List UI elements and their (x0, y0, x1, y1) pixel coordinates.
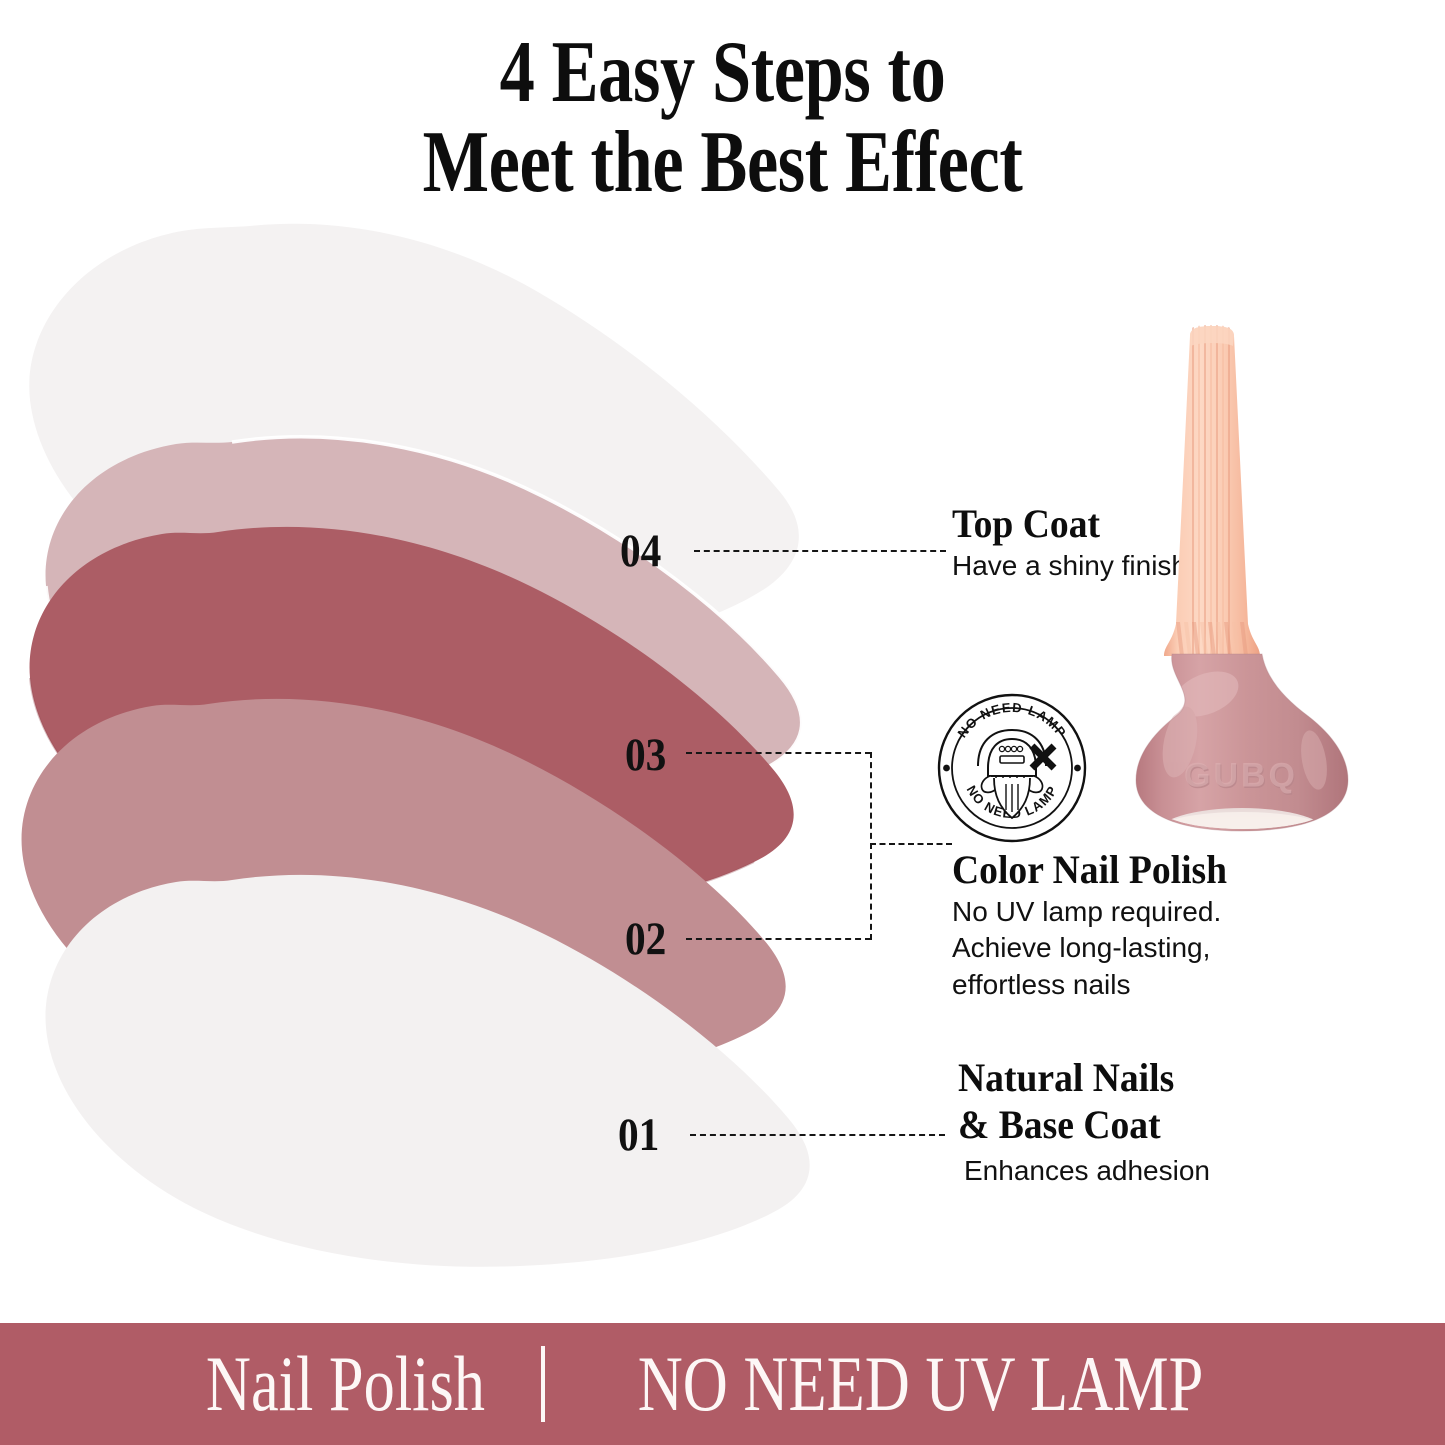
callout-color-nail-polish: Color Nail Polish No UV lamp required. A… (952, 846, 1245, 1002)
svg-text:GUBQ: GUBQ (1184, 757, 1298, 795)
step-number-02: 02 (625, 912, 666, 966)
banner-left-text: Nail Polish (205, 1339, 484, 1429)
step-number-04: 04 (620, 524, 661, 578)
connector-line-03 (686, 752, 871, 754)
callout-base-coat: Natural Nails & Base Coat Enhances adhes… (958, 1054, 1210, 1189)
connector-line-01 (690, 1134, 945, 1136)
step-number-01: 01 (618, 1108, 659, 1162)
page-title: 4 Easy Steps to Meet the Best Effect (0, 28, 1445, 208)
nail-layer-stack (0, 220, 860, 1300)
title-line-1: 4 Easy Steps to (145, 28, 1301, 118)
connector-line-02 (686, 938, 871, 940)
callout-base-coat-heading-2: & Base Coat (958, 1101, 1195, 1148)
bottom-banner: Nail Polish NO NEED UV LAMP (0, 1323, 1445, 1445)
bottle-body: GUBQ GUBQ (1136, 654, 1348, 844)
infographic-canvas: 4 Easy Steps to Meet the Best Effect (0, 0, 1445, 1445)
banner-right-text: NO NEED UV LAMP (638, 1339, 1204, 1429)
layer-01-base-coat (34, 864, 824, 1294)
connector-bracket-vertical (870, 752, 872, 940)
no-need-lamp-badge-icon: NO NEED LAMP NO NEED LAMP (936, 692, 1088, 844)
callout-base-coat-heading-1: Natural Nails (958, 1054, 1195, 1101)
banner-divider (541, 1346, 545, 1422)
callout-base-coat-subtext: Enhances adhesion (964, 1154, 1210, 1188)
step-number-03: 03 (625, 728, 666, 782)
callout-color-polish-heading: Color Nail Polish (952, 846, 1227, 893)
callout-color-polish-subtext-1: No UV lamp required. (952, 895, 1245, 929)
callout-color-polish-subtext-3: effortless nails (952, 968, 1245, 1002)
bottle-cap (1164, 322, 1260, 662)
title-line-2: Meet the Best Effect (145, 118, 1301, 208)
nail-polish-bottle-image: GUBQ GUBQ (1118, 322, 1366, 844)
callout-color-polish-subtext-2: Achieve long-lasting, (952, 931, 1245, 965)
connector-line-04 (694, 550, 946, 552)
